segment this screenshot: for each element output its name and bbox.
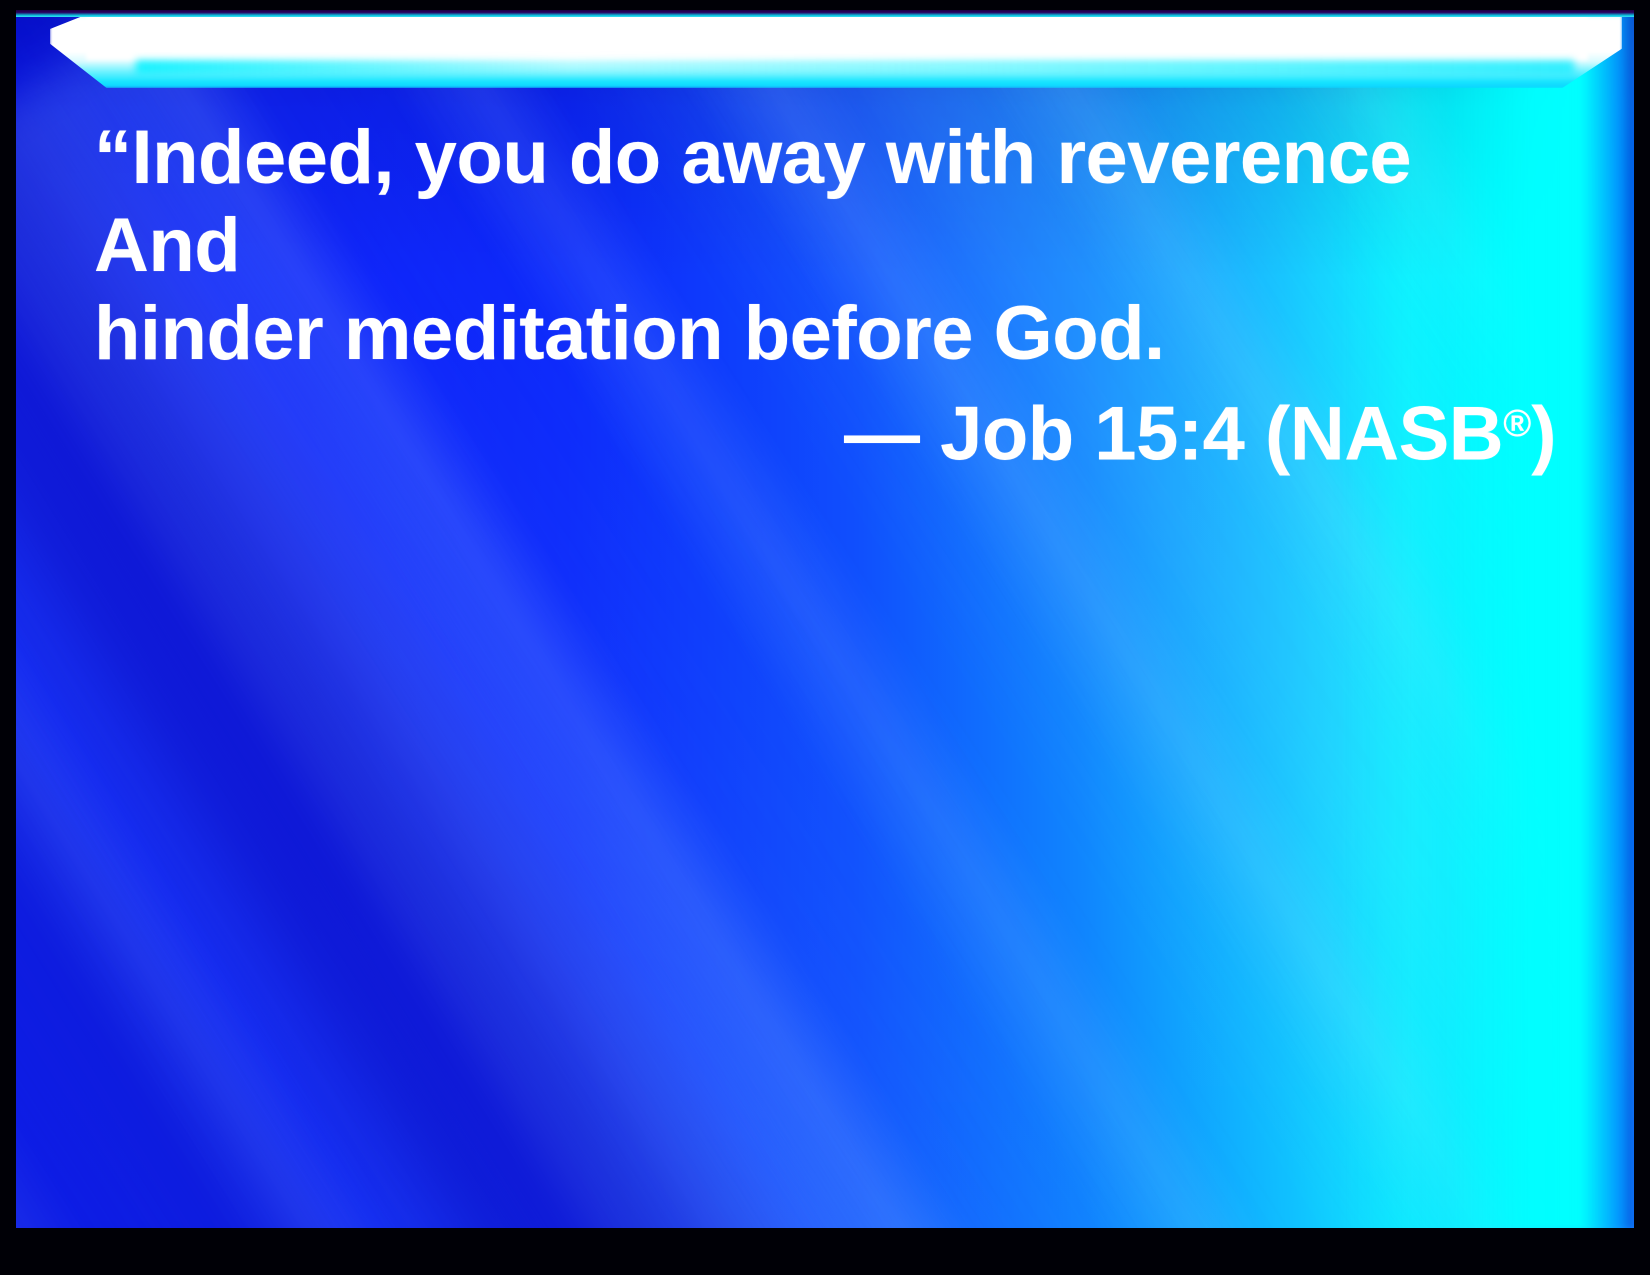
top-highlight-banner <box>16 10 1634 88</box>
verse-attribution: — Job 15:4 (NASB®) <box>94 378 1564 481</box>
banner-white-core <box>86 14 1588 60</box>
verse-line-1: “Indeed, you do away with reverence And <box>94 114 1564 290</box>
verse-slide: “Indeed, you do away with reverence And … <box>0 0 1650 1275</box>
registered-trademark-icon: ® <box>1503 403 1531 445</box>
attribution-suffix: ) <box>1531 392 1556 477</box>
banner-top-edge-line <box>16 10 1634 17</box>
verse-line-2: hinder meditation before God. <box>94 290 1564 378</box>
verse-text-block: “Indeed, you do away with reverence And … <box>94 114 1564 481</box>
artwork-panel: “Indeed, you do away with reverence And … <box>16 10 1634 1228</box>
attribution-prefix: — Job 15:4 (NASB <box>844 392 1503 477</box>
banner-cyan-underglow <box>136 60 1574 74</box>
